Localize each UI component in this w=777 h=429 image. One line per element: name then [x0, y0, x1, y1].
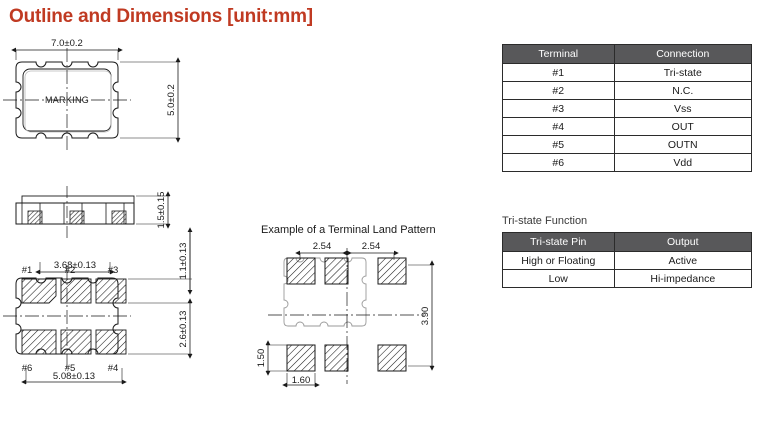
- tristate-function-caption: Tri-state Function: [502, 215, 587, 227]
- cell-connection: N.C.: [614, 82, 751, 100]
- page-title: Outline and Dimensions [unit:mm]: [9, 6, 313, 28]
- pin-label-4: #4: [108, 363, 119, 374]
- table-row: Low Hi-impedance: [503, 270, 752, 288]
- marking-label: MARKING: [45, 95, 89, 105]
- table-row: #6 Vdd: [503, 154, 752, 172]
- column-header-tristate-pin: Tri-state Pin: [503, 233, 615, 252]
- cell-terminal: #2: [503, 82, 615, 100]
- table-row: #5 OUTN: [503, 136, 752, 154]
- datasheet-page: Outline and Dimensions [unit:mm]: [0, 0, 777, 429]
- terminal-connection-table: Terminal Connection #1 Tri-state #2 N.C.…: [502, 44, 752, 172]
- side-view-height-dim: 1.5±0.15: [156, 192, 167, 229]
- cell-output: Active: [614, 252, 751, 270]
- cell-terminal: #3: [503, 100, 615, 118]
- column-header-output: Output: [614, 233, 751, 252]
- table-row: #1 Tri-state: [503, 64, 752, 82]
- table-row: High or Floating Active: [503, 252, 752, 270]
- pin-label-3: #3: [108, 265, 119, 276]
- cell-tristate-pin: High or Floating: [503, 252, 615, 270]
- tristate-function-table: Tri-state Pin Output High or Floating Ac…: [502, 232, 752, 288]
- pin-label-2: #2: [65, 265, 76, 276]
- land-pad-height-dim: 1.50: [256, 349, 267, 368]
- top-view-width-dim: 7.0±0.2: [51, 38, 83, 49]
- cell-connection: OUTN: [614, 136, 751, 154]
- cell-terminal: #1: [503, 64, 615, 82]
- pin-label-1: #1: [22, 265, 33, 276]
- bottom-view-row-spacing-dim: 2.6±0.13: [178, 311, 189, 348]
- table-row: #2 N.C.: [503, 82, 752, 100]
- cell-output: Hi-impedance: [614, 270, 751, 288]
- cell-connection: Vdd: [614, 154, 751, 172]
- land-pitch-right-dim: 2.54: [362, 241, 381, 252]
- side-view-pad-offset-dim: 1.1±0.13: [178, 243, 189, 280]
- cell-connection: Tri-state: [614, 64, 751, 82]
- pin-label-5: #5: [65, 363, 76, 374]
- cell-connection: Vss: [614, 100, 751, 118]
- land-pad-width-dim: 1.60: [292, 375, 311, 386]
- land-pattern-group: [266, 248, 434, 387]
- table-header-row: Tri-state Pin Output: [503, 233, 752, 252]
- column-header-terminal: Terminal: [503, 45, 615, 64]
- top-view-group: [3, 48, 180, 152]
- cell-terminal: #4: [503, 118, 615, 136]
- land-pattern-caption: Example of a Terminal Land Pattern: [261, 224, 436, 236]
- column-header-connection: Connection: [614, 45, 751, 64]
- side-view-group: [16, 186, 190, 290]
- cell-terminal: #6: [503, 154, 615, 172]
- table-row: #4 OUT: [503, 118, 752, 136]
- cell-tristate-pin: Low: [503, 270, 615, 288]
- pin-label-6: #6: [22, 363, 33, 374]
- bottom-view-group: [3, 262, 192, 384]
- cell-connection: OUT: [614, 118, 751, 136]
- cell-terminal: #5: [503, 136, 615, 154]
- land-pitch-left-dim: 2.54: [313, 241, 332, 252]
- top-view-height-dim: 5.0±0.2: [166, 84, 177, 116]
- bottom-view-bottom-pitch-dim: 5.08±0.13: [53, 371, 95, 382]
- table-header-row: Terminal Connection: [503, 45, 752, 64]
- table-row: #3 Vss: [503, 100, 752, 118]
- land-overall-height-dim: 3.90: [420, 307, 431, 326]
- bottom-view-top-pitch-dim: 3.68±0.13: [54, 260, 96, 271]
